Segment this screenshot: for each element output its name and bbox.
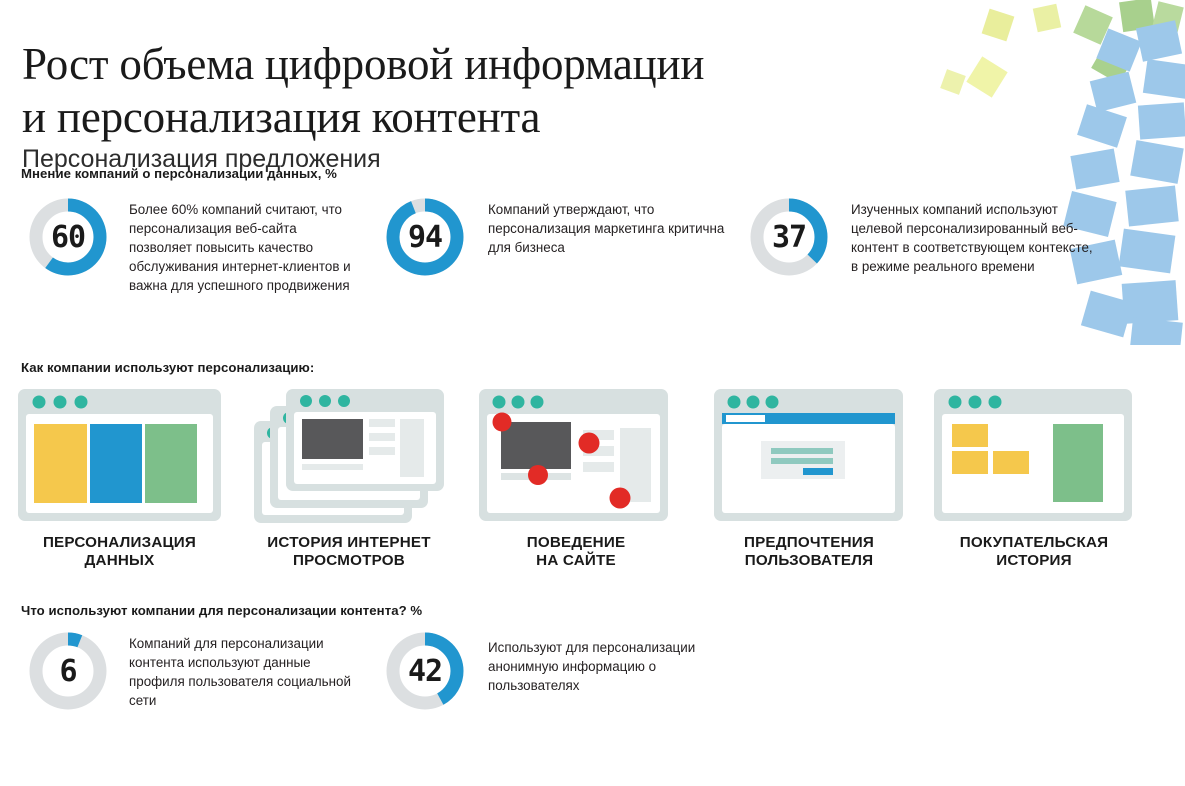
donut-chart-42: 42 [384, 630, 466, 712]
stat-text-60: Более 60% компаний считают, что персонал… [129, 196, 354, 295]
donut-value-42: 42 [384, 630, 466, 712]
confetti-decoration [925, 0, 1185, 345]
donut-value-37: 37 [748, 196, 830, 278]
card-caption-browsing-history: ИСТОРИЯ ИНТЕРНЕТ ПРОСМОТРОВ [253, 534, 445, 570]
page-title-line2: и персонализация контента [22, 91, 952, 144]
stat-block-37: 37 Изученных компаний используют целевой… [748, 196, 1096, 278]
donut-chart-37: 37 [748, 196, 830, 278]
infographic-page: Рост объема цифровой информации и персон… [0, 0, 1185, 786]
donut-chart-6: 6 [27, 630, 109, 712]
stat-block-60: 60 Более 60% компаний считают, что персо… [27, 196, 354, 295]
card-site-behaviour[interactable]: ПОВЕДЕНИЕ НА САЙТЕ [478, 388, 674, 528]
browser-stack-icon [253, 388, 445, 528]
stat-text-6: Компаний для персонализации контента исп… [129, 630, 359, 710]
card-caption-personalization-data: ПЕРСОНАЛИЗАЦИЯ ДАННЫХ [17, 534, 222, 570]
page-title: Рост объема цифровой информации и персон… [22, 38, 952, 144]
browser-products-icon [933, 388, 1135, 528]
page-title-line1: Рост объема цифровой информации [22, 39, 704, 89]
donut-value-60: 60 [27, 196, 109, 278]
section-label-whatuse: Что используют компании для персонализац… [21, 603, 422, 618]
confetti-yellow-group [940, 4, 1061, 98]
stat-text-94: Компаний утверждают, что персонализация … [488, 196, 738, 257]
stat-block-6: 6 Компаний для персонализации контента и… [27, 630, 359, 712]
section-label-opinion: Мнение компаний о персонализации данных,… [21, 166, 337, 181]
card-user-preferences[interactable]: ПРЕДПОЧТЕНИЯ ПОЛЬЗОВАТЕЛЯ [713, 388, 905, 528]
donut-value-6: 6 [27, 630, 109, 712]
stat-block-94: 94 Компаний утверждают, что персонализац… [384, 196, 738, 278]
donut-value-94: 94 [384, 196, 466, 278]
confetti-green-group [1073, 0, 1184, 84]
stat-block-42: 42 Используют для персонализации анонимн… [384, 630, 738, 712]
usage-cards: ПЕРСОНАЛИЗАЦИЯ ДАННЫХ [0, 388, 1185, 573]
stat-text-42: Используют для персонализации анонимную … [488, 630, 738, 695]
donut-chart-94: 94 [384, 196, 466, 278]
section-label-howuse: Как компании используют персонализацию: [21, 360, 314, 375]
card-caption-site-behaviour: ПОВЕДЕНИЕ НА САЙТЕ [478, 534, 674, 570]
confetti-blue-group [1063, 20, 1185, 345]
card-purchase-history[interactable]: ПОКУПАТЕЛЬСКАЯ ИСТОРИЯ [933, 388, 1135, 528]
donut-chart-60: 60 [27, 196, 109, 278]
card-caption-purchase-history: ПОКУПАТЕЛЬСКАЯ ИСТОРИЯ [933, 534, 1135, 570]
browser-three-columns-icon [17, 388, 222, 528]
browser-search-form-icon [713, 388, 905, 528]
card-browsing-history[interactable]: ИСТОРИЯ ИНТЕРНЕТ ПРОСМОТРОВ [253, 388, 445, 528]
card-personalization-data[interactable]: ПЕРСОНАЛИЗАЦИЯ ДАННЫХ [17, 388, 222, 528]
stat-text-37: Изученных компаний используют целевой пе… [851, 196, 1096, 276]
card-caption-user-preferences: ПРЕДПОЧТЕНИЯ ПОЛЬЗОВАТЕЛЯ [713, 534, 905, 570]
browser-heatmap-icon [478, 388, 674, 528]
